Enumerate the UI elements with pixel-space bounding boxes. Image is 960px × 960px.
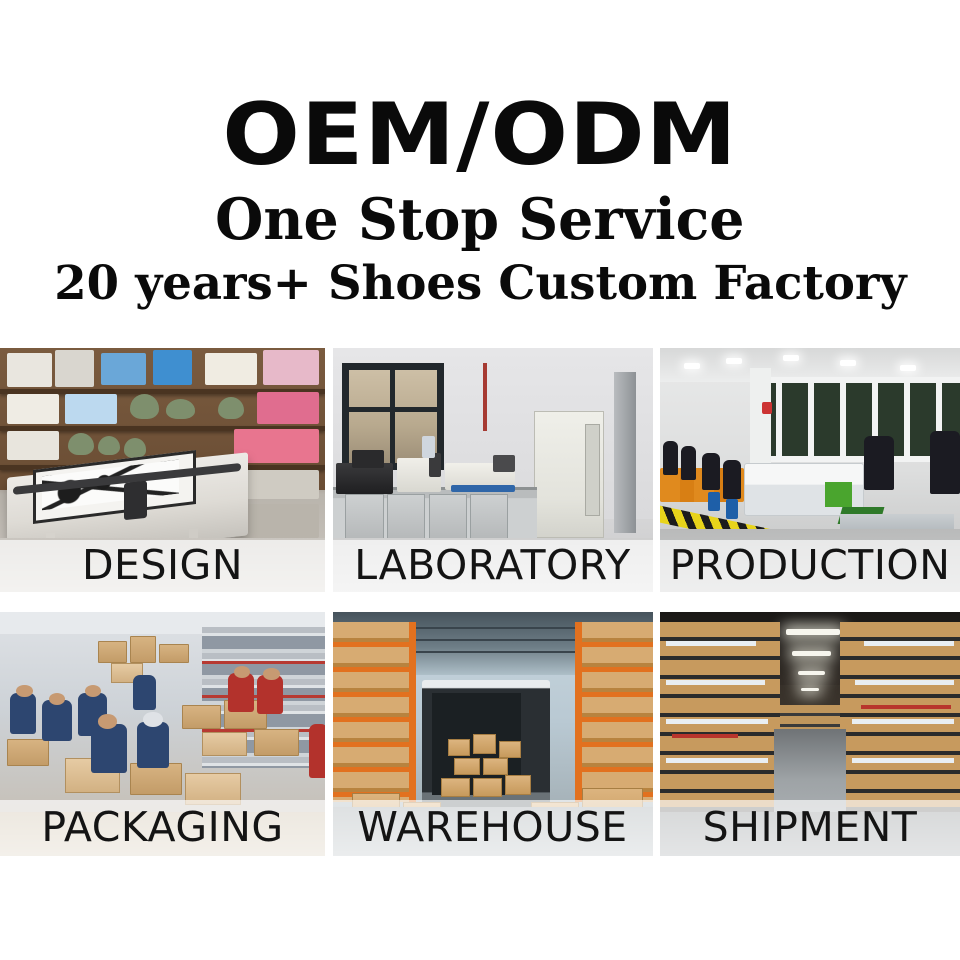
tile-label-packaging: PACKAGING	[0, 800, 325, 856]
page-tagline: 20 years+ Shoes Custom Factory	[54, 260, 906, 307]
tile-label-text: PRODUCTION	[670, 545, 951, 586]
tile-label-shipment: SHIPMENT	[660, 800, 960, 856]
tile-label-text: WAREHOUSE	[357, 807, 627, 848]
tile-design[interactable]: DESIGN	[0, 348, 325, 592]
heading-block: OEM/ODM One Stop Service 20 years+ Shoes…	[0, 0, 960, 348]
tile-label-laboratory: LABORATORY	[333, 540, 653, 592]
promo-banner: OEM/ODM One Stop Service 20 years+ Shoes…	[0, 0, 960, 960]
page-subtitle: One Stop Service	[215, 191, 744, 248]
process-image-grid: DESIGN	[0, 348, 960, 856]
tile-label-text: DESIGN	[82, 545, 243, 586]
tile-production[interactable]: PRODUCTION	[660, 348, 960, 592]
tile-label-text: PACKAGING	[41, 807, 283, 848]
page-title: OEM/ODM	[222, 96, 737, 175]
tile-packaging[interactable]: PACKAGING	[0, 612, 325, 856]
tile-warehouse[interactable]: WAREHOUSE	[333, 612, 653, 856]
tile-label-design: DESIGN	[0, 540, 325, 592]
tile-label-production: PRODUCTION	[660, 540, 960, 592]
tile-label-text: LABORATORY	[354, 545, 630, 586]
tile-label-warehouse: WAREHOUSE	[333, 800, 653, 856]
tile-label-text: SHIPMENT	[703, 807, 918, 848]
tile-shipment[interactable]: SHIPMENT	[660, 612, 960, 856]
tile-laboratory[interactable]: LABORATORY	[333, 348, 653, 592]
